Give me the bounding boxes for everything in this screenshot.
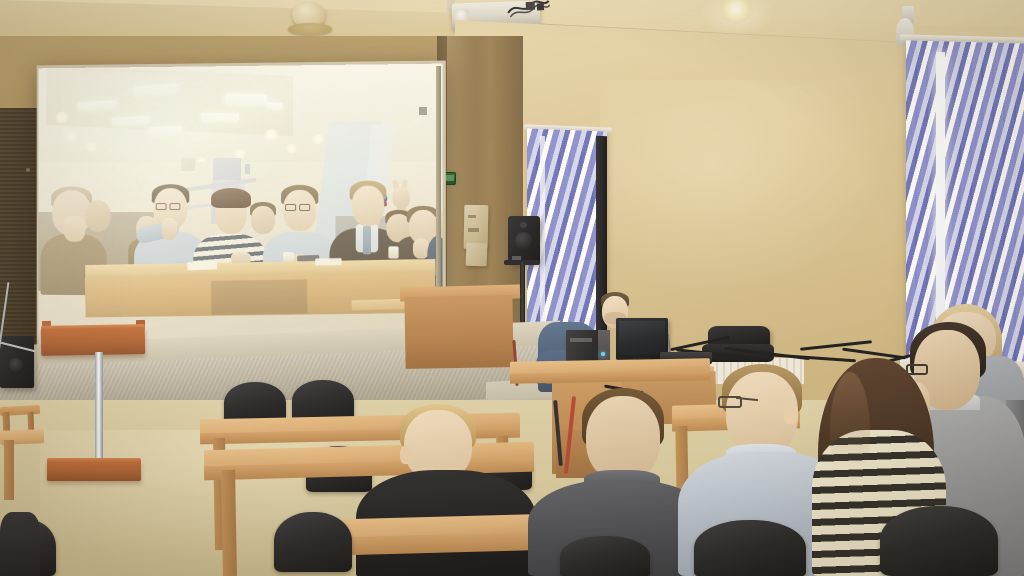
power-led-icon [601,352,605,356]
remote-fluorescent-tube [201,113,239,123]
pc-tower-badge [570,338,592,342]
pa-speaker-tweeter-icon [520,222,527,228]
desk-leg [221,470,237,576]
remote-person-5-tie [363,226,371,254]
remote-person-3-hair-front [211,188,251,208]
projection-screen [39,64,443,367]
chair-back [694,520,806,576]
ceiling-dome-speaker-ring [288,23,332,35]
chair-back [880,506,998,576]
chair-back [560,536,650,576]
stage-monitor-cone-icon [9,358,23,372]
podium-chrome-pole [95,352,103,465]
remote-person-2-glasses-left [156,203,167,210]
remote-person-back2-head [251,206,275,234]
remote-wall-vent [181,158,195,171]
remote-ceiling-spot [285,144,298,154]
remote-person-2-glasses-right [170,203,181,210]
remote-fluorescent-tube [225,93,267,105]
audience-man-blue-shirt-ear [784,404,798,424]
wooden-podium-top [41,327,145,356]
remote-ceiling-spot [263,129,279,141]
remote-wall-sign [245,164,250,174]
audience-blond-boy-ear [400,446,412,464]
remote-person-2-hand [162,218,178,240]
remote-ceiling-spot [65,131,79,142]
projector-cables [505,0,550,21]
pa-speaker-cone-icon [515,232,532,249]
remote-person-5-head [352,186,385,226]
chair-back [274,512,352,572]
remote-paper-sheet-2 [315,258,341,265]
wall-light-sheen [600,80,880,290]
remote-desk-panel [211,279,308,314]
remote-ceiling-spot [85,142,98,152]
remote-ceiling-spot [54,111,70,123]
remote-person-4-glasses-right [299,204,310,211]
remote-person-4-glasses-left [285,204,296,211]
stage-side-desk-front [404,295,513,369]
wall-control-box-slot [468,228,479,232]
projector-cable-svg [505,0,550,21]
podium-base [47,461,141,481]
audience-left-edge-person [0,512,40,576]
remote-person-1-hand [64,216,85,242]
remote-paper-sheet [187,261,217,270]
remote-paper-cup-2 [388,246,398,258]
remote-ceiling-spot [311,133,325,144]
remote-person-1b-head [85,200,110,232]
desk-leg [4,440,14,500]
wall-control-box-slot [468,215,476,218]
remote-v-sign-hand [392,188,409,208]
audience-woman-hair-sheen [830,372,870,492]
computer-monitor-screen [619,321,665,355]
wall-control-box-lower [466,243,488,267]
wall-fixture-speck [26,168,30,172]
lecture-hall-photo: Lecture hall videoconference session EXI… [0,0,1024,576]
screen-corner-registration-mark [419,107,427,115]
remote-fluorescent-tube [267,102,283,110]
